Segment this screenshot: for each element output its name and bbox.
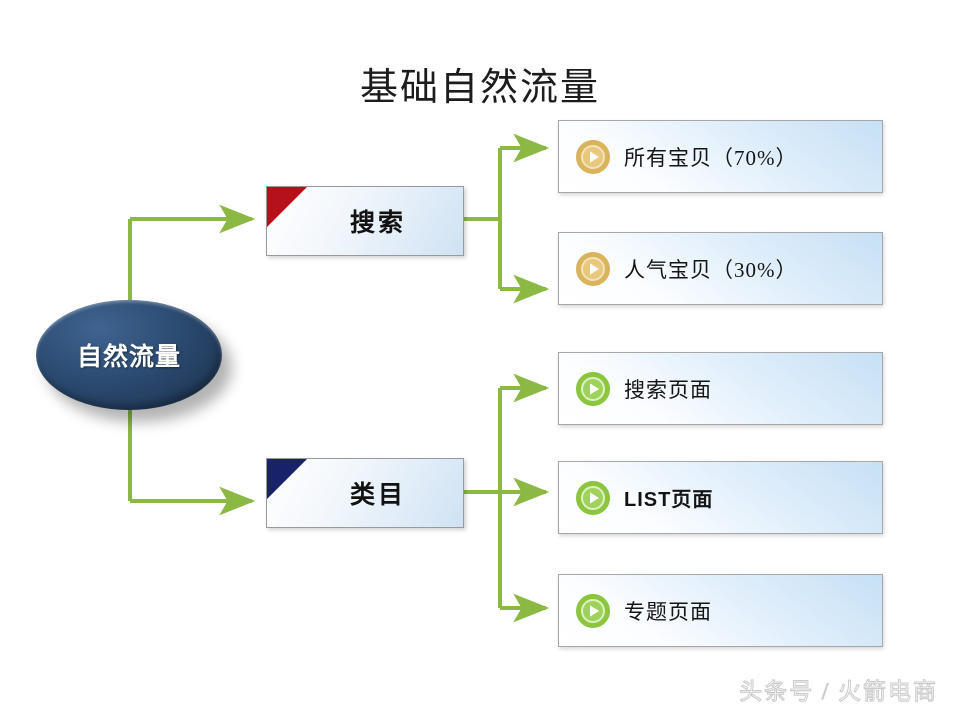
branch-node-category[interactable]: 类目	[266, 458, 464, 528]
leaf-card-topic-page[interactable]: 专题页面	[558, 574, 883, 647]
play-circle-icon	[575, 480, 611, 516]
play-circle-icon	[575, 251, 611, 287]
root-node-label: 自然流量	[77, 337, 181, 373]
leaf-card-popular-items-label: 人气宝贝（30%）	[624, 254, 798, 284]
branch-node-category-label: 类目	[324, 475, 406, 511]
leaf-card-all-items-label: 所有宝贝（70%）	[624, 142, 798, 172]
page-title: 基础自然流量	[0, 56, 960, 111]
leaf-card-all-items[interactable]: 所有宝贝（70%）	[558, 120, 883, 193]
branch-node-search[interactable]: 搜索	[266, 186, 464, 256]
leaf-card-popular-items[interactable]: 人气宝贝（30%）	[558, 232, 883, 305]
watermark-text: 头条号 / 火箭电商	[739, 672, 938, 706]
play-circle-icon	[575, 593, 611, 629]
leaf-card-list-page-label: LIST页面	[624, 483, 713, 512]
corner-flag-navy-icon	[267, 459, 307, 499]
slide-canvas: 基础自然流量 自然流量	[0, 0, 960, 720]
root-node-natural-traffic[interactable]: 自然流量	[36, 300, 222, 410]
leaf-card-search-page-label: 搜索页面	[624, 374, 712, 404]
branch-node-search-label: 搜索	[324, 203, 406, 239]
play-circle-icon	[575, 371, 611, 407]
leaf-card-list-page[interactable]: LIST页面	[558, 461, 883, 534]
leaf-card-search-page[interactable]: 搜索页面	[558, 352, 883, 425]
corner-flag-red-icon	[267, 187, 307, 227]
play-circle-icon	[575, 139, 611, 175]
leaf-card-topic-page-label: 专题页面	[624, 596, 712, 626]
